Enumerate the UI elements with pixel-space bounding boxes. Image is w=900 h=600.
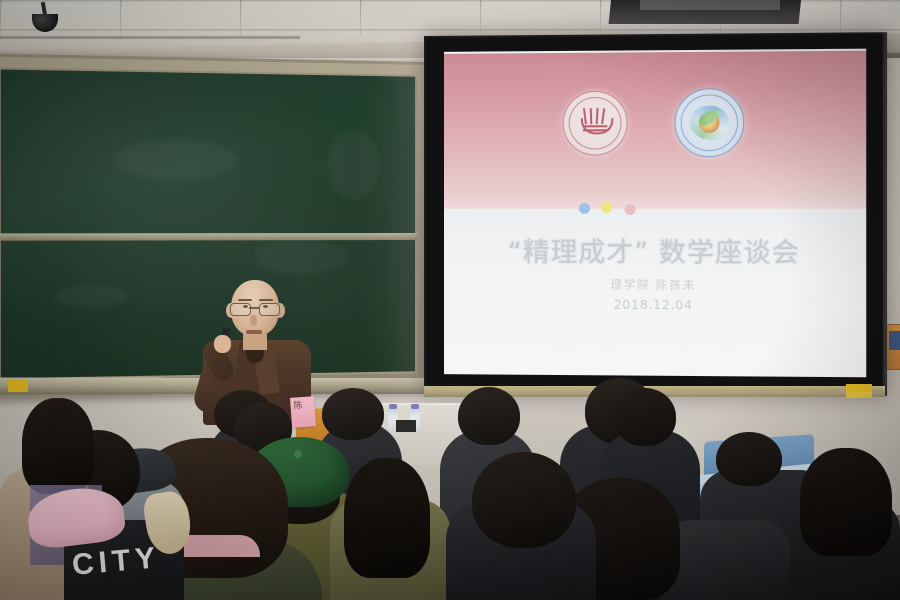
ceiling-opening-frame	[640, 0, 780, 10]
audience-head	[458, 387, 520, 445]
blackboard-divider	[0, 233, 417, 241]
science-swirl-icon	[690, 105, 729, 140]
dot-yellow-icon	[601, 202, 612, 213]
beret-nub-icon	[294, 450, 302, 458]
audience-head	[344, 458, 430, 578]
speaker-mouth	[246, 330, 262, 334]
ceiling-conduit	[0, 36, 300, 39]
audience-head	[800, 448, 892, 556]
presentation-slide: “精理成才” 数学座谈会 理学院 陈孩未 2018.12.04	[444, 49, 866, 378]
lecture-hall-scene: “精理成才” 数学座谈会 理学院 陈孩未 2018.12.04 陈	[0, 0, 900, 600]
chalk-tray-end-cap	[8, 379, 28, 392]
audience-head	[22, 398, 94, 494]
college-of-science-logo	[675, 88, 745, 157]
screen-rail-end-cap	[846, 384, 872, 398]
donghua-bowl-icon	[581, 118, 613, 134]
wall-control-panel[interactable]	[886, 324, 900, 370]
panel-indicator-icon	[889, 331, 900, 350]
slide-header-band	[444, 51, 866, 209]
science-leaf-icon	[697, 108, 723, 128]
speaker-hand	[214, 335, 231, 353]
projection-screen[interactable]: “精理成才” 数学座谈会 理学院 陈孩未 2018.12.04	[424, 32, 887, 396]
audience-head	[716, 432, 782, 486]
microphone-base[interactable]	[396, 420, 416, 432]
slide-date: 2018.12.04	[444, 296, 866, 313]
dot-blue-icon	[579, 203, 590, 214]
audience-head	[472, 452, 576, 548]
donghua-university-logo	[563, 91, 628, 156]
dot-pink-icon	[625, 204, 636, 215]
speaker-nameplate: 陈	[290, 396, 316, 428]
nameplate-text: 陈	[293, 401, 303, 412]
audience-head	[614, 388, 676, 446]
audience-head	[322, 388, 384, 440]
donghua-emblem-icon	[581, 108, 609, 138]
slide-accent-dots	[577, 202, 720, 216]
slide-title: “精理成才” 数学座谈会	[444, 230, 866, 270]
slide-subtitle: 理学院 陈孩未	[444, 276, 866, 294]
speaker-nose	[250, 315, 257, 326]
speaker-glasses-icon	[228, 303, 282, 315]
blackboard-surface	[0, 67, 417, 380]
